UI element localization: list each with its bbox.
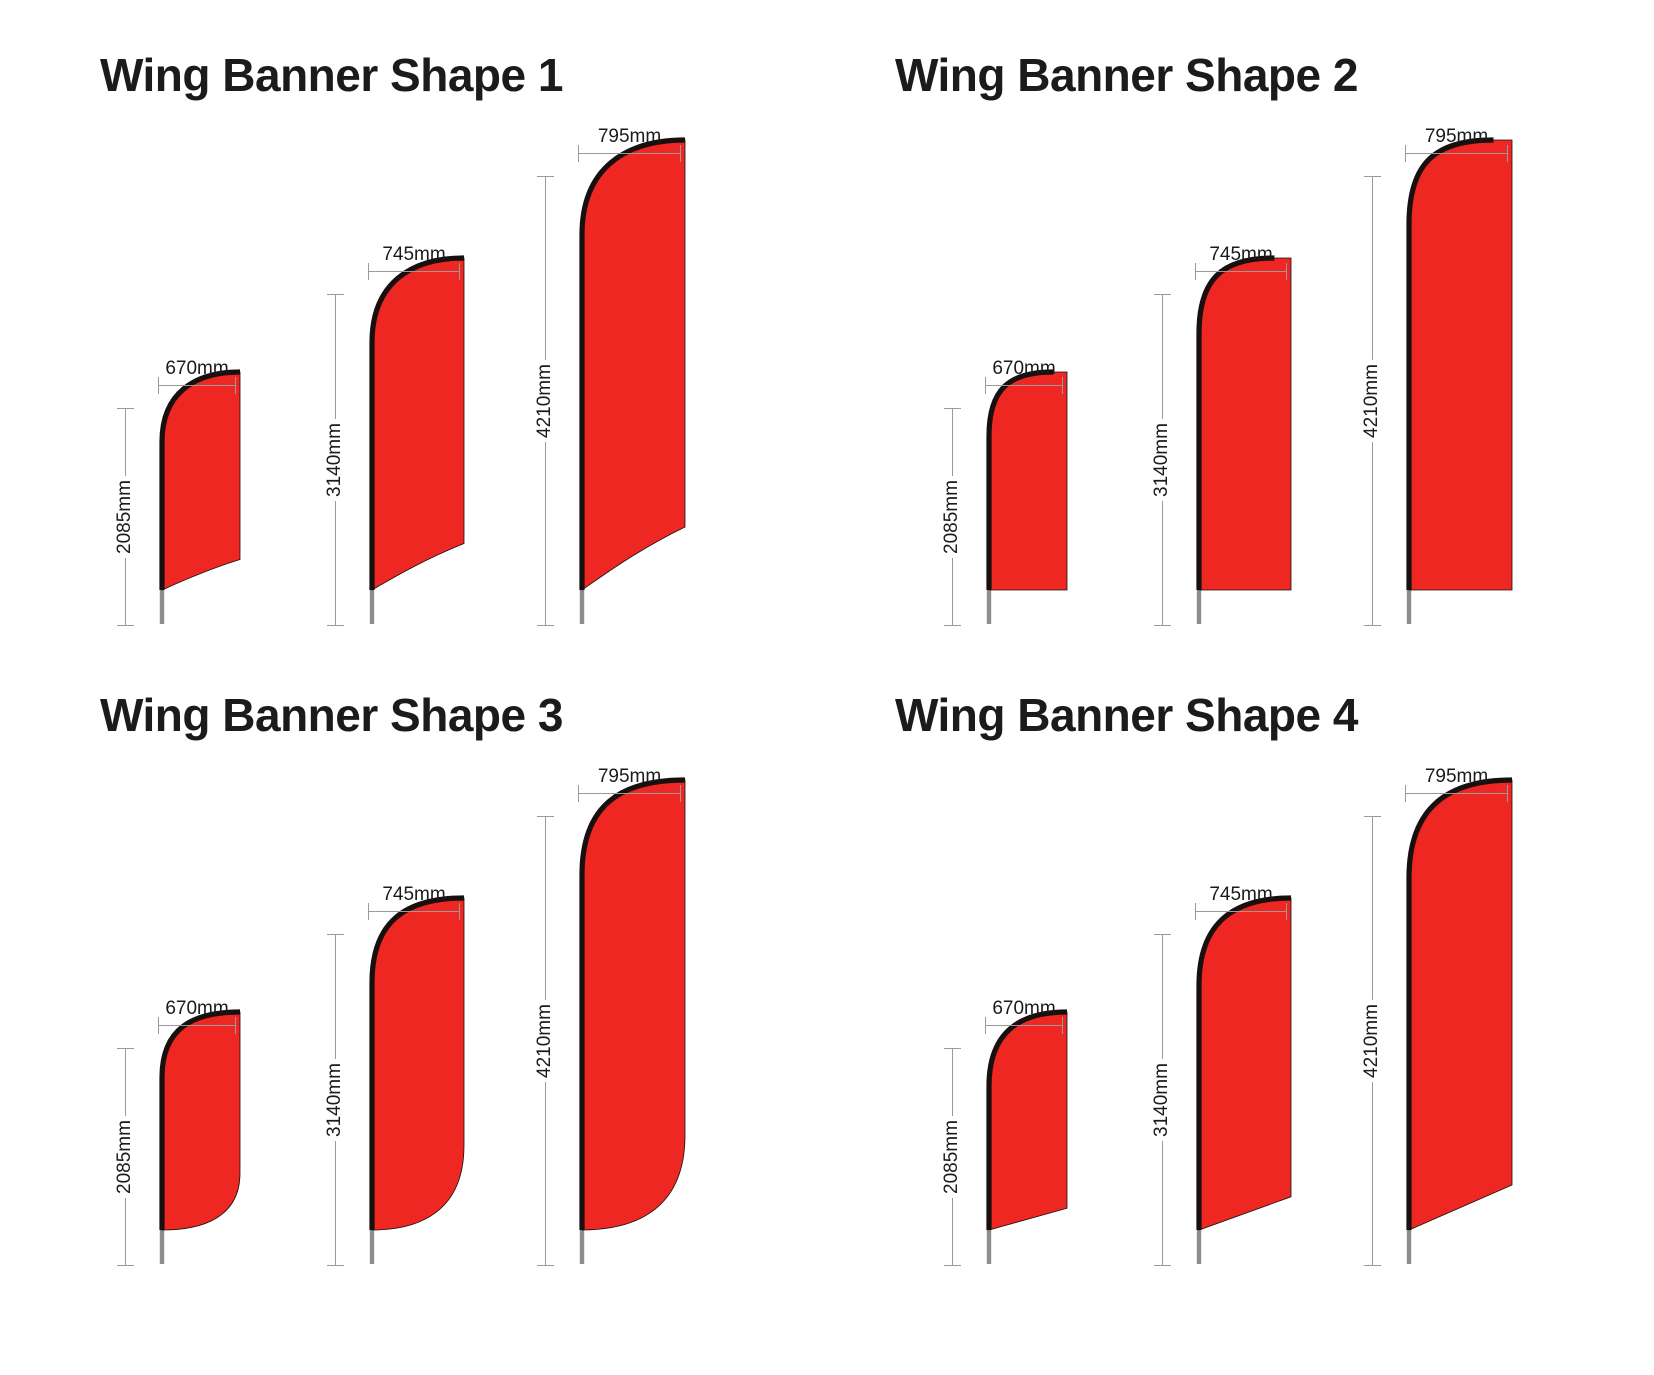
dimension-rule (1195, 271, 1287, 272)
dimension-tick-bottom (944, 625, 961, 626)
banner-group: 2085mm670mm3140mm745mm4210mm795mm (0, 648, 827, 1308)
height-label: 2085mm (938, 1116, 966, 1198)
width-label: 795mm (1425, 766, 1488, 788)
width-label: 745mm (382, 244, 445, 266)
dimension-tick-right (1507, 785, 1508, 802)
dimension-tick-left (985, 1017, 986, 1034)
width-label: 795mm (1425, 126, 1488, 148)
dimension-tick-bottom (1364, 1265, 1381, 1266)
dimension-rule (1195, 911, 1287, 912)
dimension-tick-bottom (1154, 625, 1171, 626)
dimension-rule (368, 271, 460, 272)
dimension-tick-right (235, 1017, 236, 1034)
banner-group: 2085mm670mm3140mm745mm4210mm795mm (827, 8, 1654, 668)
pole-shaft (1197, 588, 1201, 624)
panel-shape-3: Wing Banner Shape 32085mm670mm3140mm745m… (0, 648, 827, 1308)
dimension-tick-right (235, 377, 236, 394)
flag-body (1199, 258, 1291, 590)
height-dimension: 2085mm (112, 408, 138, 626)
width-label: 745mm (1209, 884, 1272, 906)
dimension-tick-right (1286, 903, 1287, 920)
dimension-tick-top (117, 408, 134, 409)
pole-shaft (1407, 1228, 1411, 1264)
height-dimension: 3140mm (1149, 294, 1175, 626)
panel-shape-2: Wing Banner Shape 22085mm670mm3140mm745m… (827, 8, 1654, 668)
pole-shaft (580, 1228, 584, 1264)
dimension-tick-top (1364, 176, 1381, 177)
height-dimension: 2085mm (939, 1048, 965, 1266)
dimension-tick-left (1405, 145, 1406, 162)
height-label: 2085mm (111, 476, 139, 558)
dimension-tick-left (158, 377, 159, 394)
panel-shape-4: Wing Banner Shape 42085mm670mm3140mm745m… (827, 648, 1654, 1308)
dimension-tick-top (537, 176, 554, 177)
flag-graphic (578, 776, 689, 1266)
flag-body (1409, 780, 1512, 1230)
pole-shaft (370, 1228, 374, 1264)
width-label: 670mm (165, 998, 228, 1020)
dimension-tick-top (537, 816, 554, 817)
dimension-tick-right (1062, 377, 1063, 394)
height-label: 4210mm (1358, 360, 1386, 442)
height-label: 3140mm (321, 419, 349, 501)
flag-graphic (1405, 776, 1516, 1266)
width-dimension: 745mm (368, 911, 460, 912)
flag-body (582, 140, 685, 590)
wing-banner-size-chart: Wing Banner Shape 12085mm670mm3140mm745m… (0, 0, 1654, 1375)
height-label: 3140mm (1148, 1059, 1176, 1141)
height-dimension: 4210mm (1359, 176, 1385, 626)
dimension-tick-left (158, 1017, 159, 1034)
height-label: 2085mm (938, 476, 966, 558)
dimension-tick-right (1286, 263, 1287, 280)
pole-shaft (370, 588, 374, 624)
width-label: 670mm (165, 358, 228, 380)
width-dimension: 795mm (578, 793, 681, 794)
height-dimension: 4210mm (532, 816, 558, 1266)
width-dimension: 670mm (985, 1025, 1063, 1026)
dimension-tick-bottom (117, 1265, 134, 1266)
pole-shaft (987, 588, 991, 624)
flag-graphic (1405, 136, 1516, 626)
dimension-rule (1405, 153, 1508, 154)
height-label: 4210mm (531, 1000, 559, 1082)
pole-shaft (1407, 588, 1411, 624)
pole-shaft (160, 588, 164, 624)
banner-group: 2085mm670mm3140mm745mm4210mm795mm (827, 648, 1654, 1308)
dimension-tick-top (944, 1048, 961, 1049)
height-dimension: 3140mm (322, 294, 348, 626)
width-dimension: 670mm (985, 385, 1063, 386)
height-dimension: 2085mm (939, 408, 965, 626)
width-dimension: 795mm (578, 153, 681, 154)
height-label: 4210mm (531, 360, 559, 442)
dimension-tick-bottom (537, 1265, 554, 1266)
dimension-rule (985, 385, 1063, 386)
height-dimension: 3140mm (322, 934, 348, 1266)
dimension-tick-bottom (1364, 625, 1381, 626)
flag-graphic (158, 1008, 244, 1266)
pole-shaft (580, 588, 584, 624)
dimension-tick-bottom (944, 1265, 961, 1266)
height-label: 3140mm (1148, 419, 1176, 501)
width-label: 795mm (598, 126, 661, 148)
dimension-tick-left (1195, 903, 1196, 920)
panel-shape-1: Wing Banner Shape 12085mm670mm3140mm745m… (0, 8, 827, 668)
dimension-rule (158, 1025, 236, 1026)
dimension-rule (368, 911, 460, 912)
flag-graphic (985, 1008, 1071, 1266)
width-dimension: 745mm (1195, 911, 1287, 912)
dimension-tick-left (1405, 785, 1406, 802)
pole-shaft (1197, 1228, 1201, 1264)
width-dimension: 670mm (158, 385, 236, 386)
height-label: 3140mm (321, 1059, 349, 1141)
height-label: 4210mm (1358, 1000, 1386, 1082)
flag-body (1199, 898, 1291, 1230)
width-dimension: 670mm (158, 1025, 236, 1026)
dimension-tick-left (578, 145, 579, 162)
dimension-tick-bottom (117, 625, 134, 626)
width-label: 670mm (992, 358, 1055, 380)
height-dimension: 4210mm (532, 176, 558, 626)
dimension-tick-top (327, 294, 344, 295)
dimension-tick-bottom (537, 625, 554, 626)
dimension-tick-right (459, 263, 460, 280)
flag-graphic (1195, 894, 1295, 1266)
flag-body (162, 372, 240, 590)
dimension-rule (1405, 793, 1508, 794)
flag-body (162, 1012, 240, 1230)
dimension-tick-right (1062, 1017, 1063, 1034)
width-dimension: 745mm (1195, 271, 1287, 272)
dimension-tick-bottom (1154, 1265, 1171, 1266)
dimension-tick-bottom (327, 1265, 344, 1266)
flag-graphic (368, 894, 468, 1266)
dimension-rule (985, 1025, 1063, 1026)
flag-body (582, 780, 685, 1230)
dimension-rule (578, 153, 681, 154)
width-dimension: 795mm (1405, 153, 1508, 154)
dimension-tick-left (985, 377, 986, 394)
pole-shaft (987, 1228, 991, 1264)
width-label: 745mm (382, 884, 445, 906)
dimension-tick-top (1364, 816, 1381, 817)
height-dimension: 3140mm (1149, 934, 1175, 1266)
dimension-tick-left (368, 903, 369, 920)
width-label: 745mm (1209, 244, 1272, 266)
pole-shaft (160, 1228, 164, 1264)
height-label: 2085mm (111, 1116, 139, 1198)
dimension-tick-right (680, 785, 681, 802)
flag-graphic (1195, 254, 1295, 626)
dimension-rule (578, 793, 681, 794)
dimension-tick-left (368, 263, 369, 280)
dimension-tick-right (459, 903, 460, 920)
dimension-tick-top (1154, 934, 1171, 935)
dimension-tick-top (1154, 294, 1171, 295)
dimension-tick-left (1195, 263, 1196, 280)
dimension-rule (158, 385, 236, 386)
flag-body (989, 1012, 1067, 1230)
flag-body (989, 372, 1067, 590)
banner-group: 2085mm670mm3140mm745mm4210mm795mm (0, 8, 827, 668)
width-label: 670mm (992, 998, 1055, 1020)
dimension-tick-left (578, 785, 579, 802)
height-dimension: 2085mm (112, 1048, 138, 1266)
flag-body (372, 258, 464, 590)
flag-body (1409, 140, 1512, 590)
flag-graphic (985, 368, 1071, 626)
dimension-tick-top (944, 408, 961, 409)
flag-graphic (158, 368, 244, 626)
flag-body (372, 898, 464, 1230)
flag-graphic (578, 136, 689, 626)
dimension-tick-bottom (327, 625, 344, 626)
dimension-tick-top (117, 1048, 134, 1049)
dimension-tick-right (1507, 145, 1508, 162)
flag-graphic (368, 254, 468, 626)
height-dimension: 4210mm (1359, 816, 1385, 1266)
dimension-tick-top (327, 934, 344, 935)
dimension-tick-right (680, 145, 681, 162)
width-dimension: 745mm (368, 271, 460, 272)
width-dimension: 795mm (1405, 793, 1508, 794)
width-label: 795mm (598, 766, 661, 788)
